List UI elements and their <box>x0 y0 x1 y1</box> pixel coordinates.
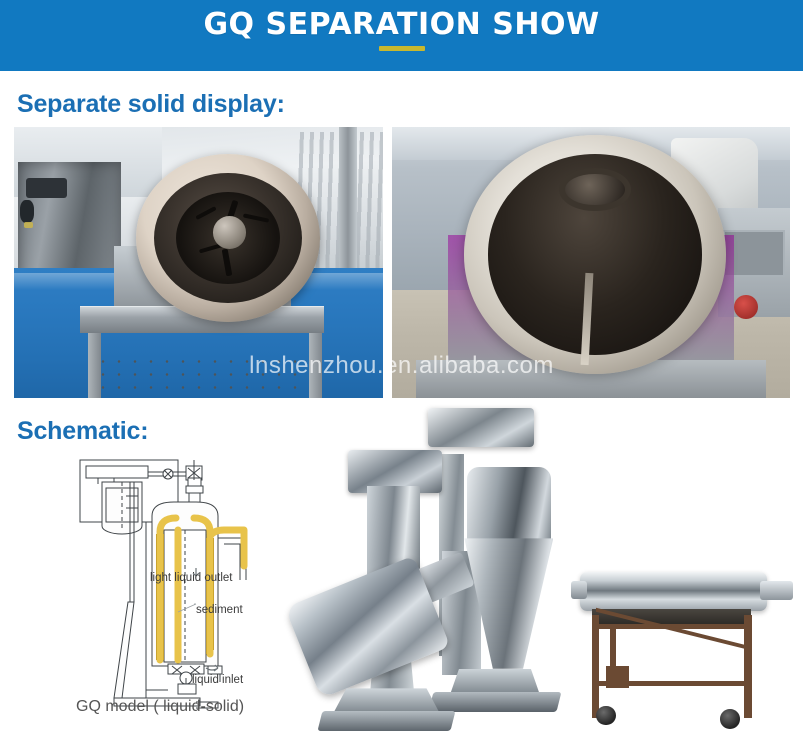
section-heading-separate-solid-display: Separate solid display: <box>17 90 285 119</box>
title-underline-accent <box>379 46 425 51</box>
centrifuge-rotor-drum <box>580 572 767 611</box>
stand-leg-right <box>309 328 322 398</box>
machine-b-motor-head <box>428 408 534 447</box>
cart-lower-fitting <box>606 666 629 687</box>
schematic-caption-gq-model: GQ model ( liquid-solid) <box>76 698 244 716</box>
stand-leg-left <box>88 328 101 398</box>
machine-dark-part <box>20 200 34 223</box>
rotor-shaft-right <box>760 581 793 601</box>
page-header: GQ SEPARATION SHOW <box>0 0 803 71</box>
drum-inner-ring <box>559 168 631 211</box>
cart-leg-left <box>592 615 599 718</box>
photo-left-content <box>14 127 383 398</box>
photo-tubular-centrifuge-machines <box>292 408 570 734</box>
rotor-shaft-left <box>571 581 587 599</box>
machine-yellow-part <box>24 222 33 228</box>
gq-separation-show-page: GQ SEPARATION SHOW Separate solid displa… <box>0 0 803 734</box>
section-heading-schematic: Schematic: <box>17 417 148 446</box>
schematic-label-light-liquid-outlet: light liquid outlet <box>150 572 232 584</box>
schematic-label-liquid-inlet: liquid inlet <box>192 674 243 686</box>
machine-b-bowl <box>467 467 550 545</box>
cart-caster-right <box>720 709 740 729</box>
schematic-label-sediment: sediment <box>196 604 243 616</box>
machine-a-base-plate <box>317 711 455 731</box>
cart-caster-left <box>596 706 616 726</box>
perforated-base-plate <box>95 355 309 398</box>
cart-leg-right <box>744 615 752 718</box>
page-title: GQ SEPARATION SHOW <box>203 7 599 43</box>
photo-right-content <box>392 127 790 398</box>
machine-b-base-plate <box>429 692 562 712</box>
photo-centrifuge-drum-interior-outdoor <box>392 127 790 398</box>
photo-centrifuge-rotor-on-cart <box>566 556 800 734</box>
photo-centrifuge-drum-interior-indoor <box>14 127 383 398</box>
